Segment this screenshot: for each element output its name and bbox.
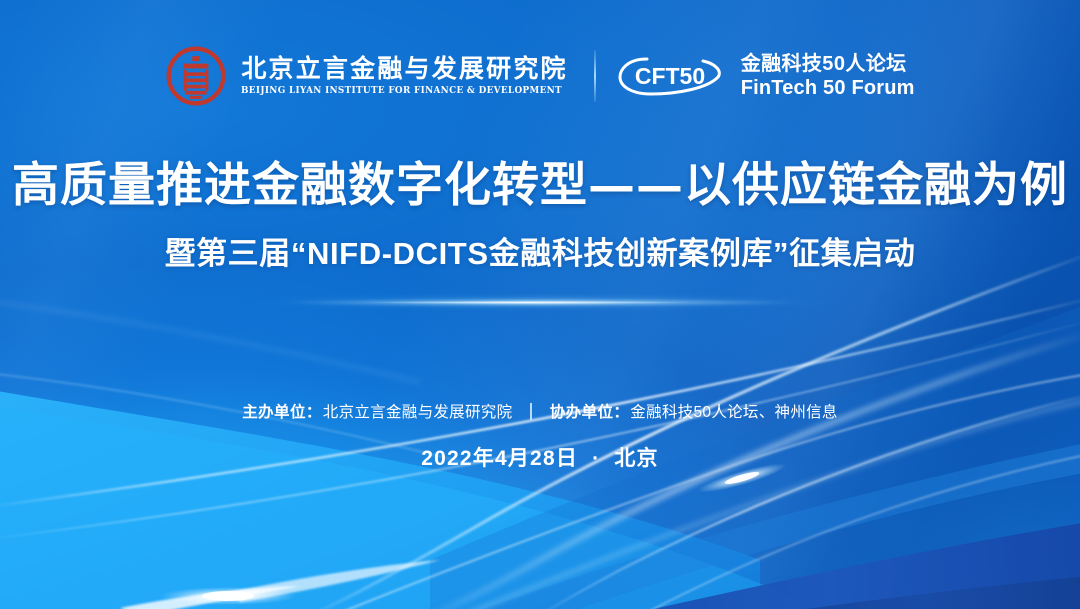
cft50-name-block: 金融科技50人论坛 FinTech 50 Forum <box>741 53 915 100</box>
cft50-name-en: FinTech 50 Forum <box>741 77 915 100</box>
organizer-separator <box>530 403 531 420</box>
banner-canvas: 北京立言金融与发展研究院 BEIJING LIYAN INSTITUTE FOR… <box>0 0 1080 609</box>
svg-text:CFT50: CFT50 <box>635 63 705 89</box>
organizer-value: 北京立言金融与发展研究院 <box>323 400 513 422</box>
event-location: 北京 <box>614 447 658 470</box>
date-location-row: 2022年4月28日 · 北京 <box>0 442 1080 472</box>
cft50-logo: CFT50 金融科技50人论坛 FinTech 50 Forum <box>618 51 915 101</box>
institute-name-block: 北京立言金融与发展研究院 BEIJING LIYAN INSTITUTE FOR… <box>241 56 572 95</box>
date-location-separator: · <box>585 447 607 470</box>
organizer-row: 主办单位： 北京立言金融与发展研究院 协办单位： 金融科技50人论坛、神州信息 <box>0 400 1080 422</box>
institute-name-en: BEIJING LIYAN INSTITUTE FOR FINANCE & DE… <box>241 85 562 96</box>
title-block: 高质量推进金融数字化转型——以供应链金融为例 暨第三届“NIFD-DCITS金融… <box>0 160 1080 273</box>
organizer-item: 主办单位： 北京立言金融与发展研究院 <box>242 400 512 422</box>
sub-title: 暨第三届“NIFD-DCITS金融科技创新案例库”征集启动 <box>0 228 1080 273</box>
cft50-oval-swoosh-icon: CFT50 <box>618 51 726 101</box>
event-date: 2022年4月28日 <box>421 447 578 470</box>
co-organizer-value: 金融科技50人论坛、神州信息 <box>630 400 837 422</box>
co-organizer-label: 协办单位： <box>550 400 630 422</box>
organizer-label: 主办单位： <box>242 400 322 422</box>
main-title: 高质量推进金融数字化转型——以供应链金融为例 <box>0 160 1080 212</box>
logo-divider <box>594 50 596 102</box>
center-light-streak-core <box>367 301 691 304</box>
institute-logo: 北京立言金融与发展研究院 BEIJING LIYAN INSTITUTE FOR… <box>165 45 572 107</box>
cft50-name-cn: 金融科技50人论坛 <box>741 53 915 76</box>
institute-seal-icon <box>165 45 227 107</box>
logo-row: 北京立言金融与发展研究院 BEIJING LIYAN INSTITUTE FOR… <box>0 45 1080 107</box>
co-organizer-item: 协办单位： 金融科技50人论坛、神州信息 <box>550 400 838 422</box>
institute-name-cn: 北京立言金融与发展研究院 <box>241 56 572 82</box>
